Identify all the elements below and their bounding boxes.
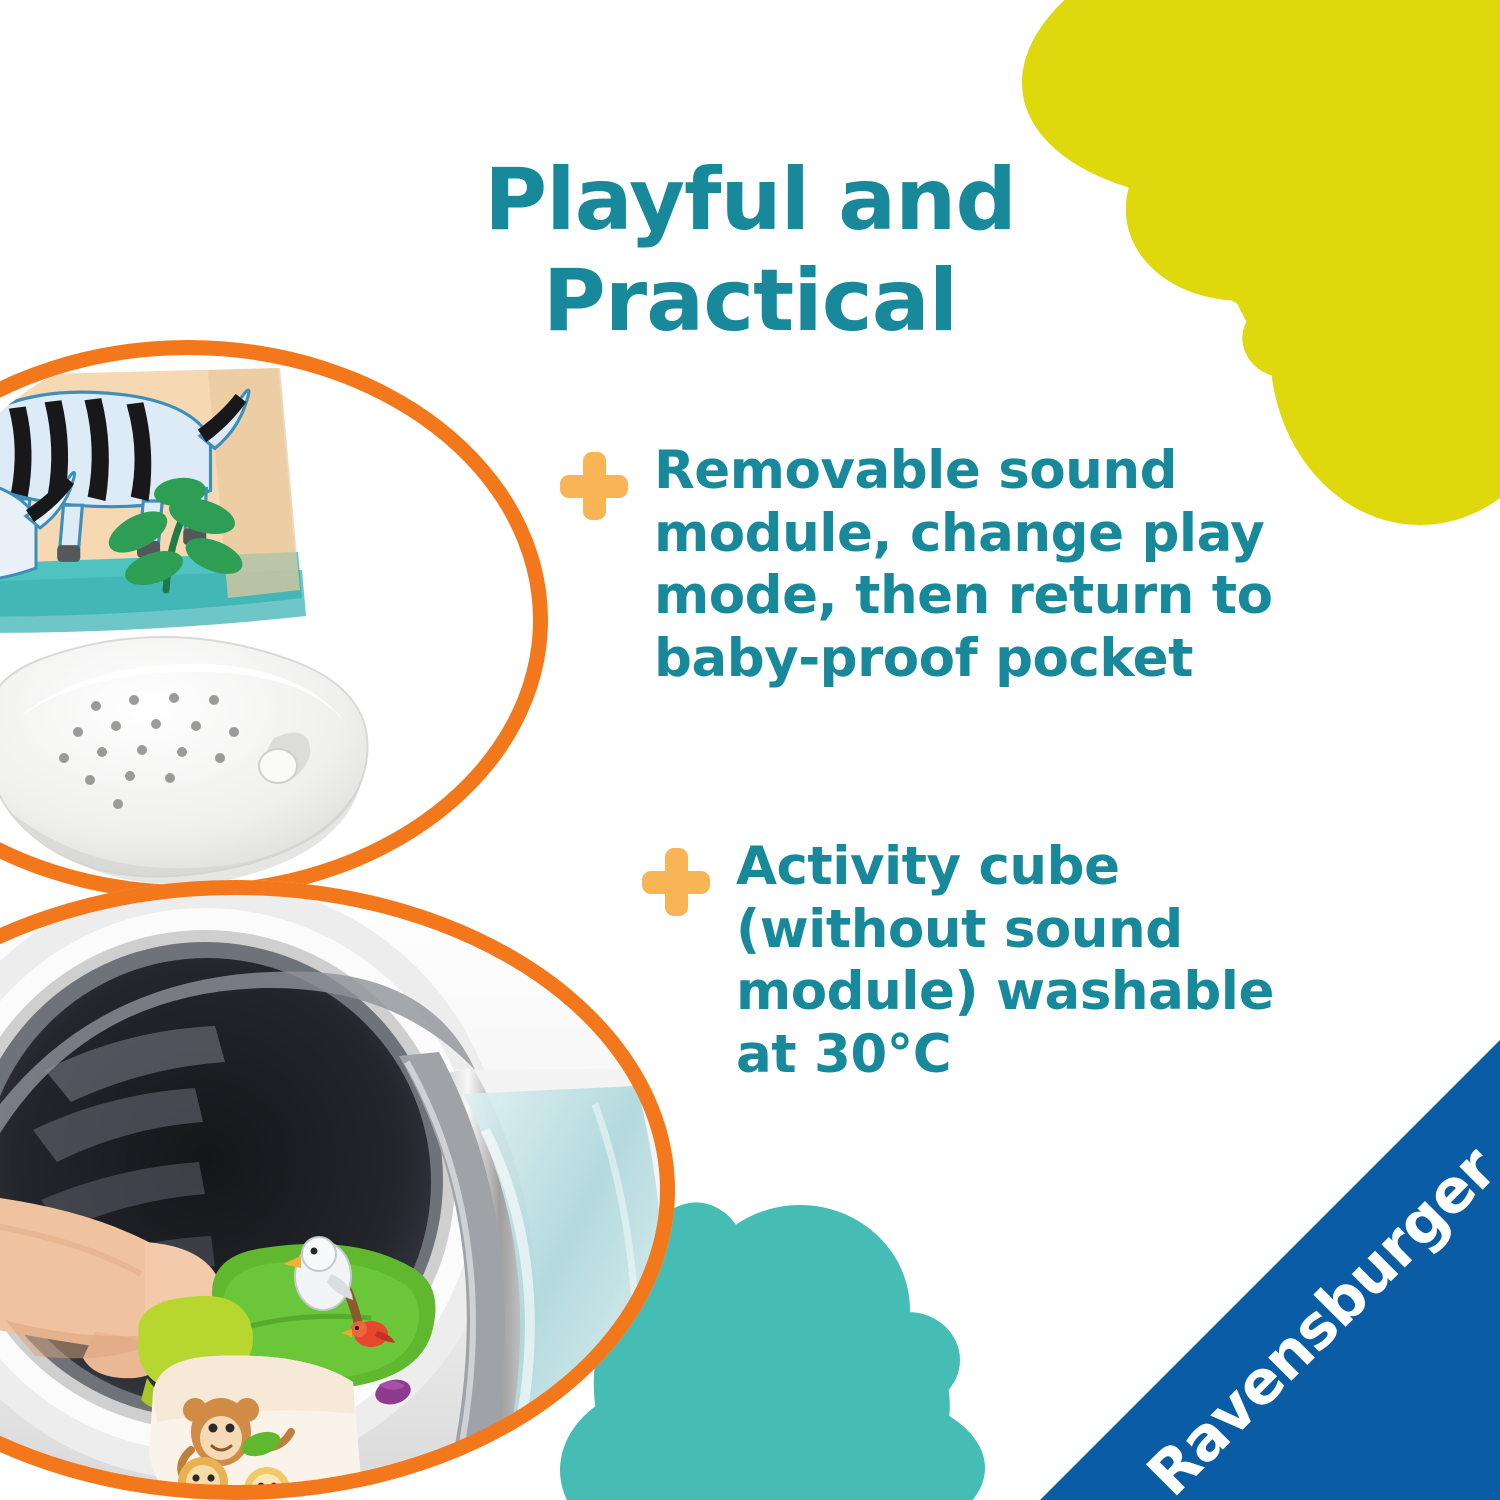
plus-icon bbox=[560, 452, 628, 520]
feature-item-sound-module: Removable sound module, change play mode… bbox=[560, 440, 1400, 690]
sound-module-photo bbox=[0, 340, 548, 900]
page-title: Playful and Practical bbox=[300, 150, 1200, 353]
brand-corner: Ravensburger bbox=[1040, 1040, 1500, 1500]
product-feature-poster: #yellow-blob-group ellipse { fill: #DFD8… bbox=[0, 0, 1500, 1500]
feature-text-sound-module: Removable sound module, change play mode… bbox=[654, 440, 1309, 690]
plus-icon bbox=[642, 848, 710, 916]
brand-triangle bbox=[1040, 1040, 1500, 1500]
